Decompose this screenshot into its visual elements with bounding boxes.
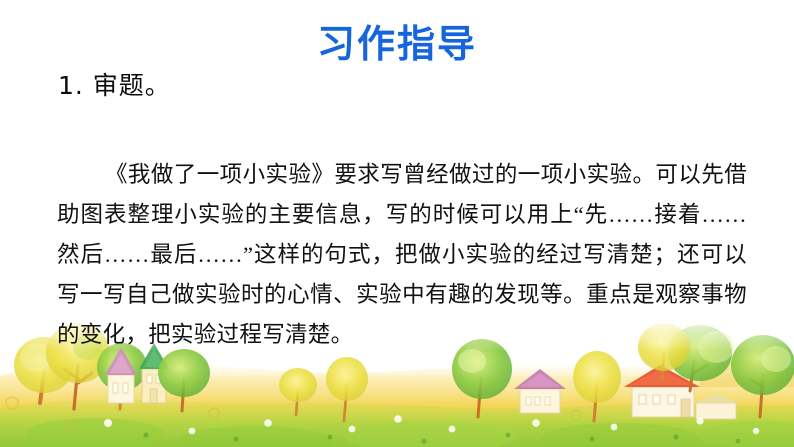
slide-canvas: 习作指导 1. 审题。 《我做了一项小实验》要求写曾经做过的一项小实验。可以先借… [0, 0, 794, 447]
section-heading: 1. 审题。 [58, 66, 171, 102]
page-title: 习作指导 [0, 24, 794, 66]
body-paragraph: 《我做了一项小实验》要求写曾经做过的一项小实验。可以先借助图表整理小实验的主要信… [57, 155, 747, 355]
